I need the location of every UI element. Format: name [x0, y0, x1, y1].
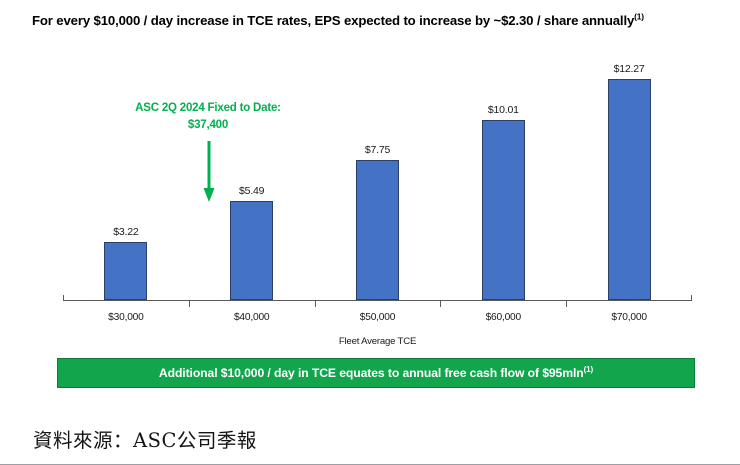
axis-tick — [189, 301, 190, 307]
bar-value-label: $10.01 — [488, 104, 519, 116]
bar-rect[interactable] — [356, 160, 399, 300]
bar-item[interactable]: $10.01 — [440, 60, 566, 300]
x-axis-label: $70,000 — [566, 312, 692, 323]
bar-chart: $3.22 $5.49 $7.75 $10.01 $12.27 — [0, 0, 740, 350]
annotation-line-2: $37,400 — [108, 117, 308, 134]
bar-item[interactable]: $3.22 — [63, 60, 189, 300]
bar-item[interactable]: $12.27 — [566, 60, 692, 300]
chart-annotation: ASC 2Q 2024 Fixed to Date: $37,400 — [108, 100, 308, 133]
bar-rect[interactable] — [230, 201, 273, 300]
axis-tick — [566, 301, 567, 307]
axis-tick — [315, 301, 316, 307]
highlight-banner-text: Additional $10,000 / day in TCE equates … — [159, 366, 593, 380]
bar-value-label: $12.27 — [614, 63, 645, 75]
bar-value-label: $5.49 — [239, 185, 264, 197]
annotation-line-1: ASC 2Q 2024 Fixed to Date: — [108, 100, 308, 117]
x-axis-label: $50,000 — [315, 312, 441, 323]
bar-series: $3.22 $5.49 $7.75 $10.01 $12.27 — [63, 60, 692, 300]
bar-rect[interactable] — [608, 79, 651, 300]
x-axis-label: $60,000 — [440, 312, 566, 323]
highlight-banner: Additional $10,000 / day in TCE equates … — [57, 358, 695, 388]
axis-end-tick-right — [691, 295, 692, 301]
axis-tick — [440, 301, 441, 307]
bar-value-label: $7.75 — [365, 144, 390, 156]
source-caption: 資料來源：ASC公司季報 — [33, 424, 257, 453]
x-axis-label: $40,000 — [189, 312, 315, 323]
slide-canvas: For every $10,000 / day increase in TCE … — [0, 0, 740, 465]
bar-item[interactable]: $7.75 — [315, 60, 441, 300]
banner-footnote: (1) — [584, 365, 593, 374]
x-axis-line — [63, 300, 692, 301]
x-axis-title: Fleet Average TCE — [63, 336, 692, 347]
bar-value-label: $3.22 — [113, 226, 138, 238]
down-arrow-icon — [202, 141, 216, 203]
banner-main-text: Additional $10,000 / day in TCE equates … — [159, 366, 584, 380]
axis-end-tick-left — [63, 295, 64, 301]
x-axis-label: $30,000 — [63, 312, 189, 323]
x-axis-labels: $30,000 $40,000 $50,000 $60,000 $70,000 — [63, 312, 692, 323]
bar-rect[interactable] — [482, 120, 525, 300]
bar-rect[interactable] — [104, 242, 147, 300]
